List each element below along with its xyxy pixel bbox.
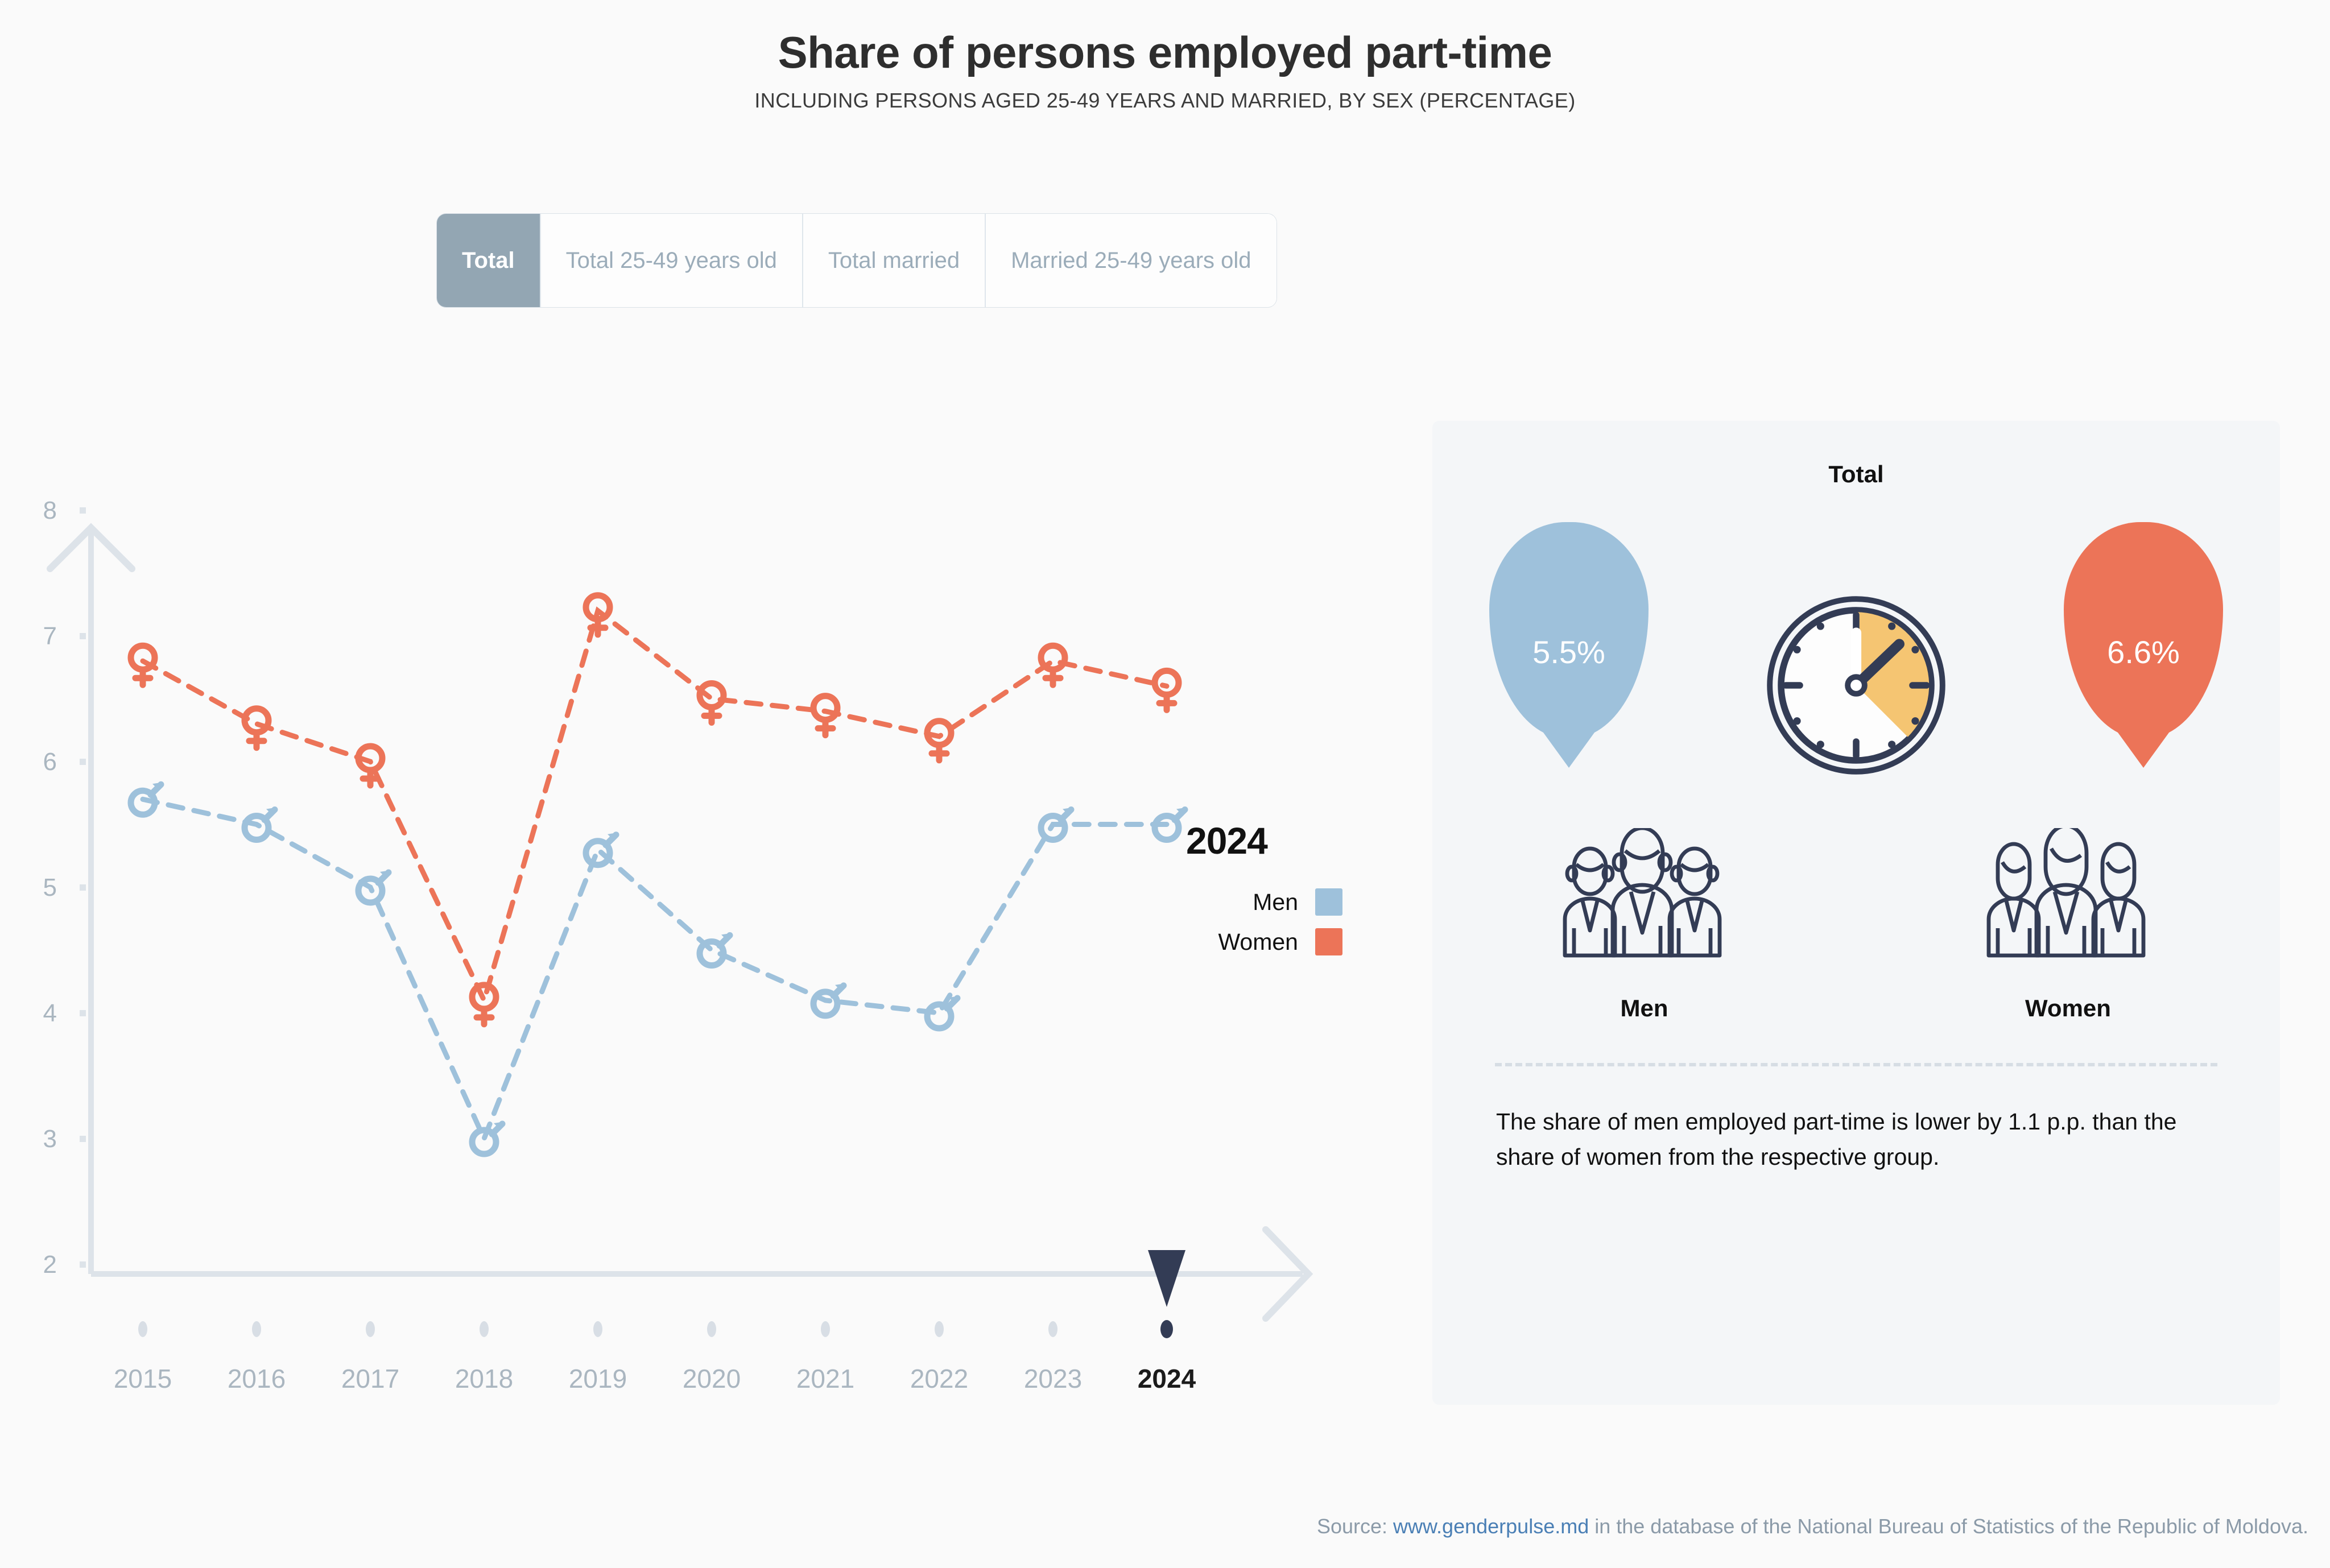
pin-row: 5.5%	[1432, 522, 2280, 761]
y-axis	[50, 528, 132, 1274]
x-label-2019: 2019	[569, 1364, 627, 1393]
group-label-men: Men	[1497, 995, 1792, 1022]
x-label-2017: 2017	[341, 1364, 399, 1393]
x-axis-labels: 2015 2016 2017 2018 2019 2020 2021 2022 …	[114, 1364, 1196, 1393]
data-point-women-2021[interactable]	[813, 696, 837, 735]
legend-item-women: Women	[1186, 928, 1342, 955]
svg-text:8: 8	[43, 497, 57, 524]
source-footer: Source: www.genderpulse.md in the databa…	[0, 1515, 2330, 1538]
y-axis-ticks: 8 7 6 5 4 3 2	[43, 497, 86, 1279]
line-chart: 8 7 6 5 4 3 2	[0, 398, 1365, 1422]
x-label-2015: 2015	[114, 1364, 172, 1393]
summary-panel: Total 5.5%	[1432, 421, 2280, 1405]
group-women: Women	[1920, 828, 2216, 1022]
data-point-women-2017[interactable]	[358, 746, 382, 785]
pin-women: 6.6%	[2064, 522, 2223, 738]
svg-text:2: 2	[43, 1251, 57, 1279]
x-label-2024: 2024	[1138, 1364, 1196, 1393]
legend-item-men: Men	[1186, 888, 1342, 916]
clock-icon	[1762, 591, 1950, 782]
pin-value-women: 6.6%	[2107, 634, 2180, 671]
x-label-2021: 2021	[796, 1364, 854, 1393]
legend-swatch-women	[1315, 928, 1342, 955]
x-label-2020: 2020	[683, 1364, 741, 1393]
pin-value-men: 5.5%	[1532, 634, 1605, 671]
page-header: Share of persons employed part-time INCL…	[0, 0, 2330, 113]
legend-year: 2024	[1186, 819, 1342, 862]
selected-year-pointer	[1148, 1250, 1185, 1307]
data-point-women-2022[interactable]	[927, 721, 951, 760]
x-label-2018: 2018	[455, 1364, 513, 1393]
panel-description: The share of men employed part-time is l…	[1496, 1104, 2219, 1175]
data-point-women-2024[interactable]	[1155, 671, 1179, 710]
x-axis-tick-dots	[138, 1320, 1173, 1338]
source-suffix: in the database of the National Bureau o…	[1589, 1515, 2308, 1538]
tab-married-25-49[interactable]: Married 25-49 years old	[986, 214, 1276, 307]
svg-text:7: 7	[43, 622, 57, 650]
people-group-icon	[1955, 828, 2182, 965]
svg-text:3: 3	[43, 1125, 57, 1153]
series-layer	[131, 595, 1187, 1154]
source-link[interactable]: www.genderpulse.md	[1393, 1515, 1589, 1538]
x-label-2023: 2023	[1024, 1364, 1082, 1393]
tab-total-25-49[interactable]: Total 25-49 years old	[541, 214, 803, 307]
svg-text:6: 6	[43, 748, 57, 776]
svg-text:4: 4	[43, 999, 57, 1027]
x-axis	[91, 1230, 1308, 1318]
data-point-women-2018[interactable]	[472, 985, 496, 1024]
tab-total[interactable]: Total	[437, 214, 541, 307]
pin-men: 5.5%	[1489, 522, 1649, 738]
data-point-women-2020[interactable]	[700, 684, 724, 723]
data-point-women-2023[interactable]	[1041, 646, 1065, 685]
x-label-2016: 2016	[228, 1364, 286, 1393]
series-line-men	[143, 799, 1167, 1139]
page-title: Share of persons employed part-time	[0, 30, 2330, 76]
legend-label-men: Men	[1253, 889, 1298, 916]
chart-canvas: 8 7 6 5 4 3 2	[0, 398, 1365, 1422]
series-line-women	[143, 611, 1167, 1000]
source-prefix: Source:	[1317, 1515, 1393, 1538]
group-men: Men	[1497, 828, 1792, 1022]
legend-swatch-men	[1315, 888, 1342, 916]
panel-divider	[1495, 1063, 2217, 1066]
svg-text:5: 5	[43, 874, 57, 901]
panel-title: Total	[1432, 461, 2280, 488]
page-subtitle: INCLUDING PERSONS AGED 25-49 YEARS AND M…	[0, 89, 2330, 113]
chart-legend: 2024 Men Women	[1186, 819, 1342, 955]
data-point-women-2015[interactable]	[131, 646, 155, 685]
x-label-2022: 2022	[910, 1364, 968, 1393]
tab-total-married[interactable]: Total married	[803, 214, 986, 307]
people-group-icon	[1531, 828, 1758, 965]
data-point-men-2017[interactable]	[358, 870, 391, 903]
category-tabbar: Total Total 25-49 years old Total marrie…	[437, 214, 1276, 307]
people-groups: Men	[1432, 828, 2280, 1022]
data-point-men-2020[interactable]	[700, 933, 732, 966]
group-label-women: Women	[1920, 995, 2216, 1022]
infographic-page: Share of persons employed part-time INCL…	[0, 0, 2330, 1568]
data-point-women-2016[interactable]	[245, 709, 268, 748]
legend-label-women: Women	[1218, 929, 1298, 955]
